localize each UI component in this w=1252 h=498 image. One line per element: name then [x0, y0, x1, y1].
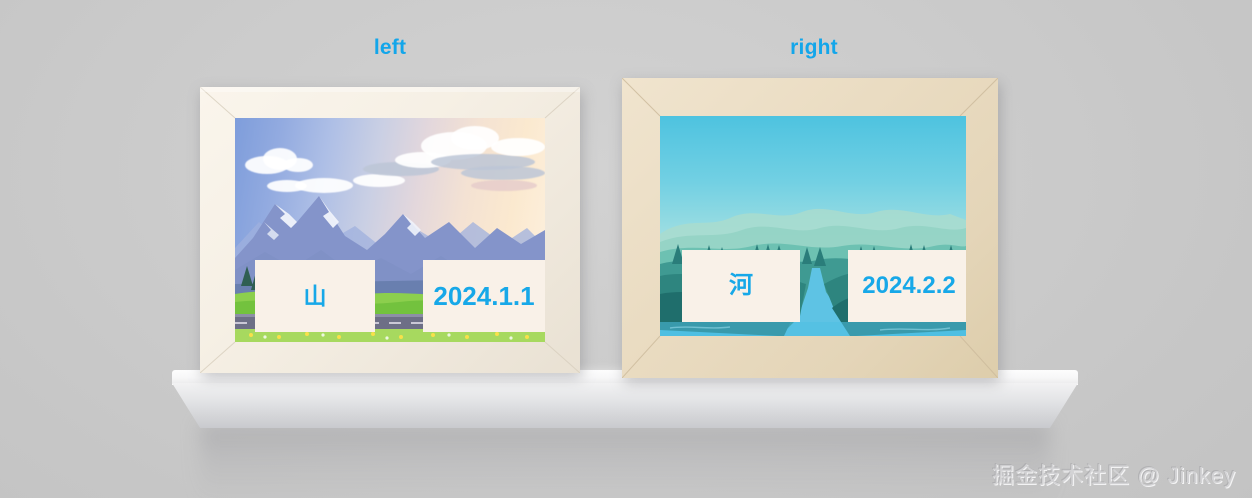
overlay-right-date: 2024.2.2: [848, 250, 966, 322]
column-label-right: right: [724, 36, 904, 60]
shelf-shadow: [200, 424, 1050, 498]
frame-left-inner: 山 2024.1.1: [200, 87, 580, 373]
picture-frame-right[interactable]: 河 2024.2.2: [622, 78, 998, 378]
overlay-right-gap: [800, 250, 848, 322]
overlay-left-date: 2024.1.1: [423, 260, 545, 332]
scene-canvas: left right: [0, 0, 1252, 498]
overlay-right-title: 河: [682, 250, 800, 322]
wall-shelf: [172, 370, 1078, 428]
picture-frame-left[interactable]: 山 2024.1.1: [200, 87, 580, 373]
overlay-left-gap: [375, 260, 423, 332]
overlay-left-title: 山: [255, 260, 375, 332]
watermark-text: 掘金技术社区 @ Jinkey: [992, 458, 1236, 490]
frame-right-inner: 河 2024.2.2: [622, 78, 998, 378]
column-label-left: left: [300, 36, 480, 60]
photo-right-river: 河 2024.2.2: [660, 116, 966, 336]
shelf-front-face: [172, 383, 1078, 428]
photo-left-overlay-row: 山 2024.1.1: [255, 260, 545, 332]
photo-left-mountains: 山 2024.1.1: [235, 118, 545, 342]
photo-right-overlay-row: 河 2024.2.2: [682, 250, 966, 322]
